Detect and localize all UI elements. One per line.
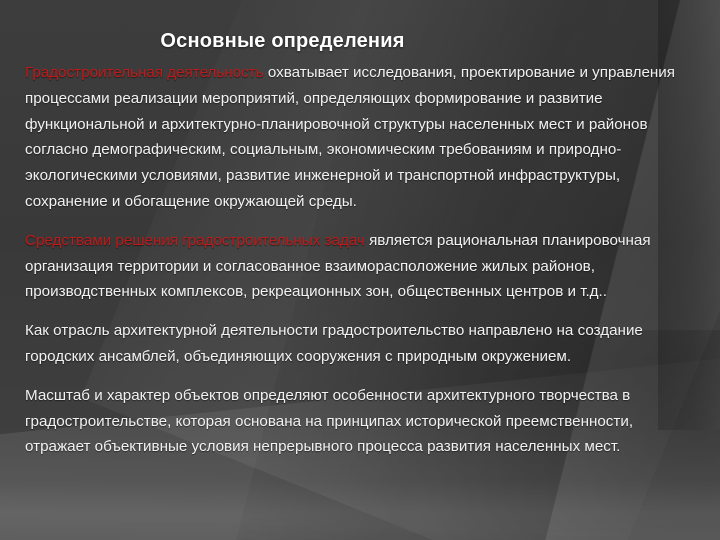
slide-body: Градостроительная деятельность охватывае… xyxy=(25,60,693,472)
paragraph-1: Градостроительная деятельность охватывае… xyxy=(25,60,693,215)
paragraph-3: Как отрасль архитектурной деятельности г… xyxy=(25,318,693,370)
presentation-slide: Основные определения Градостроительная д… xyxy=(0,0,720,540)
slide-title: Основные определения xyxy=(0,30,565,53)
slide-content: Основные определения Градостроительная д… xyxy=(0,0,720,540)
paragraph-1-text: охватывает исследования, проектирование … xyxy=(25,64,675,210)
paragraph-2: Средствами решения градостроительных зад… xyxy=(25,228,693,305)
paragraph-4: Масштаб и характер объектов определяют о… xyxy=(25,383,693,460)
paragraph-2-highlight: Средствами решения градостроительных зад… xyxy=(25,232,365,249)
paragraph-1-highlight: Градостроительная деятельность xyxy=(25,64,264,81)
paragraph-3-text: Как отрасль архитектурной деятельности г… xyxy=(25,322,643,365)
paragraph-4-text: Масштаб и характер объектов определяют о… xyxy=(25,387,633,456)
